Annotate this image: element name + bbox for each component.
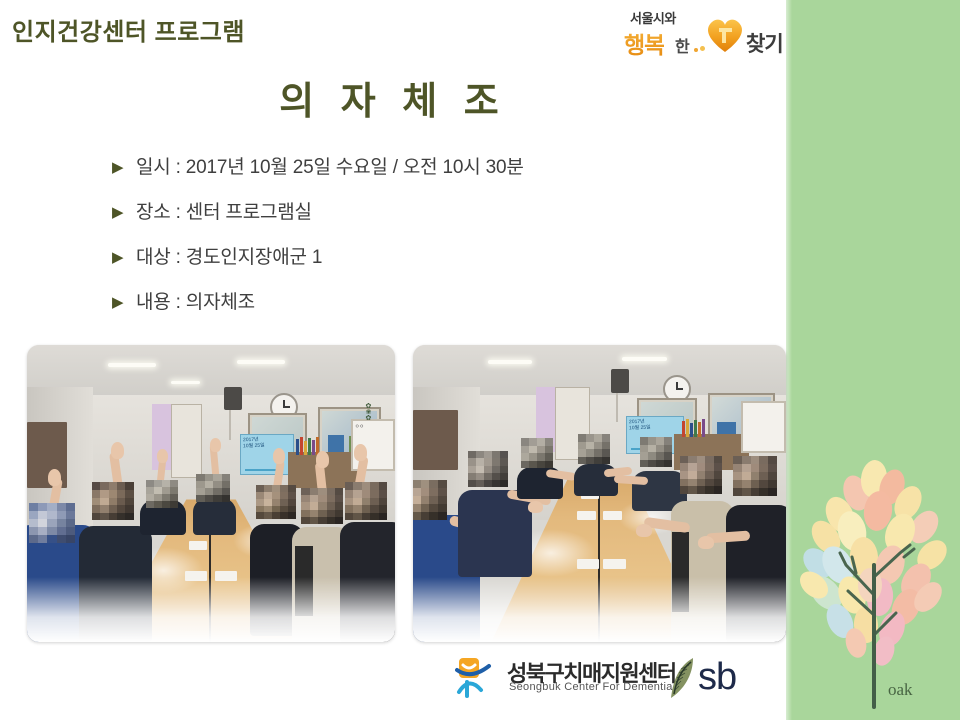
list-item-label: 내용 : 의자체조 <box>136 291 732 315</box>
logo-find-label: 찾기 <box>746 28 783 58</box>
program-photo-2: 2017년 10월 25일 <box>413 345 786 642</box>
feather-icon <box>665 656 699 700</box>
bullet-triangle-icon: ▶ <box>112 246 136 270</box>
list-item: ▶ 일시 : 2017년 10월 25일 수요일 / 오전 10시 30분 <box>112 156 732 201</box>
list-item: ▶ 대상 : 경도인지장애군 1 <box>112 246 732 291</box>
footer-sb-mark: sb <box>698 654 736 700</box>
photo-1-scene: 2017년 10월 25일 ㅇㅇ ✿❀✿ <box>27 345 395 642</box>
panel-edge-highlight <box>786 0 792 720</box>
bullet-triangle-icon: ▶ <box>112 156 136 180</box>
bullet-triangle-icon: ▶ <box>112 291 136 315</box>
logo-happy-label: 행복 <box>624 26 664 60</box>
header-title: 인지건강센터 프로그램 <box>12 12 245 47</box>
logo-seoul-label: 서울시와 <box>630 8 676 27</box>
tree-signature-label: oak <box>888 680 913 699</box>
page-title: 의 자 체 조 <box>0 70 786 125</box>
heart-icon <box>704 16 746 54</box>
list-item-label: 대상 : 경도인지장애군 1 <box>136 246 732 270</box>
seongbuk-mark-icon <box>455 656 497 698</box>
list-item: ▶ 장소 : 센터 프로그램실 <box>112 201 732 246</box>
tree-illustration: oak <box>796 445 954 713</box>
list-item: ▶ 내용 : 의자체조 <box>112 291 732 336</box>
list-item-label: 일시 : 2017년 10월 25일 수요일 / 오전 10시 30분 <box>136 156 732 180</box>
photo-2-scene: 2017년 10월 25일 <box>413 345 786 642</box>
details-list: ▶ 일시 : 2017년 10월 25일 수요일 / 오전 10시 30분 ▶ … <box>112 156 732 336</box>
slide-canvas: oak 인지건강센터 프로그램 서울시와 행복 한 <box>0 0 960 720</box>
bullet-triangle-icon: ▶ <box>112 201 136 225</box>
list-item-label: 장소 : 센터 프로그램실 <box>136 201 732 225</box>
program-photo-1: 2017년 10월 25일 ㅇㅇ ✿❀✿ <box>27 345 395 642</box>
footer-org-name-en: Seongbuk Center For Dementia <box>509 681 673 693</box>
seoul-happy-logo: 서울시와 행복 한 찾기 <box>622 6 782 60</box>
logo-han-label: 한 <box>675 33 689 57</box>
footer-organization-logo: 성북구치매지원센터 Seongbuk Center For Dementia s… <box>455 652 765 708</box>
